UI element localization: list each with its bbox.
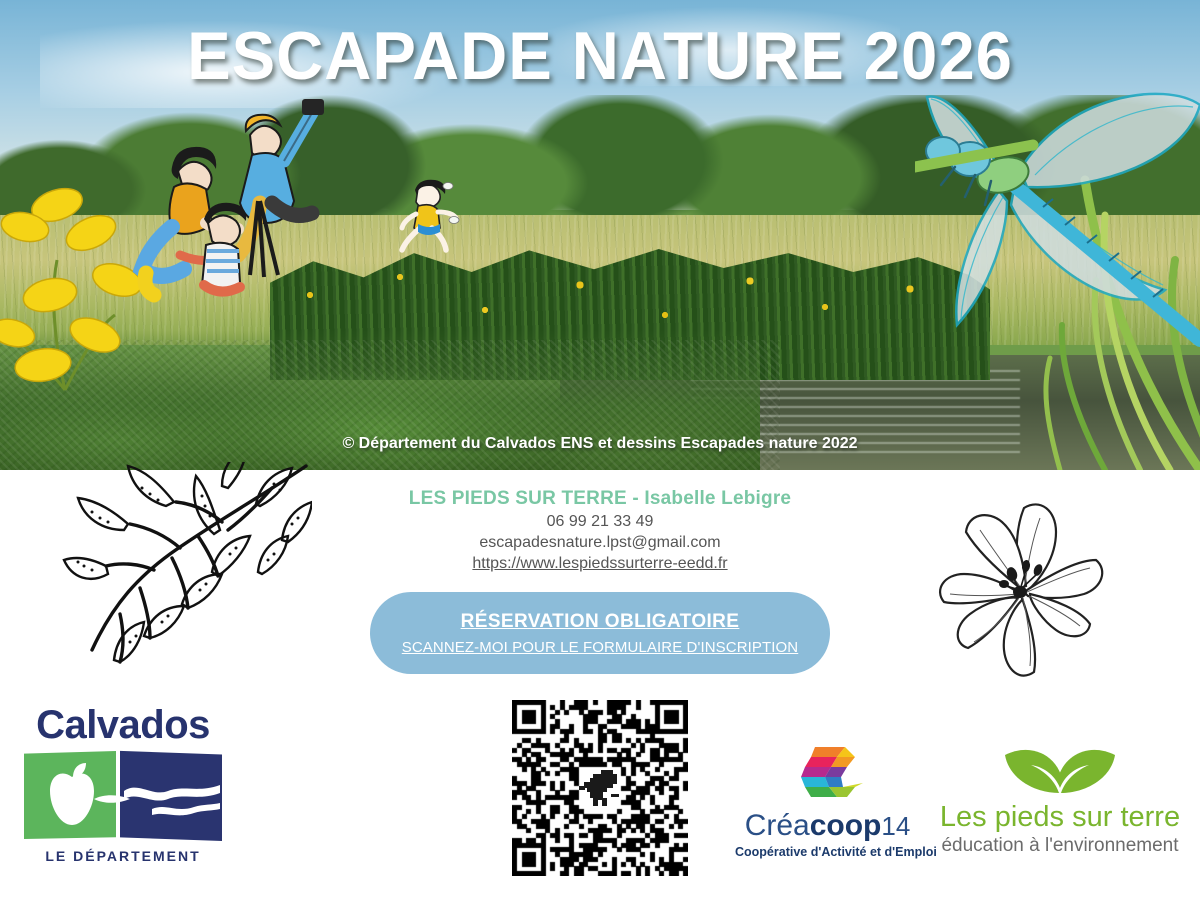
phone-number: 06 99 21 33 49: [300, 513, 900, 531]
apple-icon: [42, 763, 102, 829]
photo-credit: © Département du Calvados ENS et dessins…: [0, 435, 1200, 453]
creacoop-c-icon: [785, 745, 871, 805]
qr-code[interactable]: [512, 700, 688, 876]
waves-icon: [122, 779, 222, 819]
poster-root: ESCAPADE NATURE 2026 © Département du Ca…: [0, 0, 1200, 900]
email-address[interactable]: escapadesnature.lpst@gmail.com: [300, 534, 900, 552]
cta-subtitle: SCANNEZ-MOI POUR LE FORMULAIRE D'INSCRIP…: [402, 639, 798, 656]
calvados-emblem: [24, 749, 222, 841]
leaf-connector-icon: [94, 793, 130, 805]
cta-title: RÉSERVATION OBLIGATOIRE: [461, 611, 740, 633]
running-child-illustration: [390, 178, 460, 258]
reservation-cta-button[interactable]: RÉSERVATION OBLIGATOIRE SCANNEZ-MOI POUR…: [370, 592, 830, 674]
family-illustration: [100, 95, 400, 345]
calvados-subtitle: LE DÉPARTEMENT: [18, 848, 228, 864]
contact-block: LES PIEDS SUR TERRE - Isabelle Lebigre 0…: [300, 488, 900, 573]
organisation-name: LES PIEDS SUR TERRE - Isabelle Lebigre: [300, 488, 900, 510]
lespiedssurterre-logo: Les pieds sur terre éducation à l'enviro…: [930, 735, 1190, 875]
creacoop-tagline: Coopérative d'Activité et d'Emploi: [735, 845, 920, 859]
leaf-branch-decoration-icon: [62, 462, 312, 670]
flower-decoration-icon: [908, 488, 1114, 684]
calvados-logo: Calvados LE DÉPARTEMENT: [18, 705, 228, 875]
leaves-icon: [995, 735, 1125, 797]
creacoop-name-number: 14: [881, 811, 910, 841]
creacoop-wordmark: Créacoop14: [735, 809, 920, 843]
dragonfly-illustration: [915, 75, 1200, 405]
lpst-wordmark: Les pieds sur terre: [930, 801, 1190, 834]
lpst-tagline: éducation à l'environnement: [930, 835, 1190, 857]
website-link[interactable]: https://www.lespiedssurterre-eedd.fr: [300, 555, 900, 573]
creacoop-name-light: Créa: [745, 809, 810, 842]
creacoop-name-bold: coop: [810, 809, 882, 842]
page-title: ESCAPADE NATURE 2026: [24, 22, 1176, 90]
hero-photo: ESCAPADE NATURE 2026 © Département du Ca…: [0, 0, 1200, 470]
calvados-wordmark: Calvados: [18, 705, 228, 745]
dinosaur-icon: [577, 768, 623, 808]
creacoop-logo: Créacoop14 Coopérative d'Activité et d'E…: [735, 745, 920, 865]
